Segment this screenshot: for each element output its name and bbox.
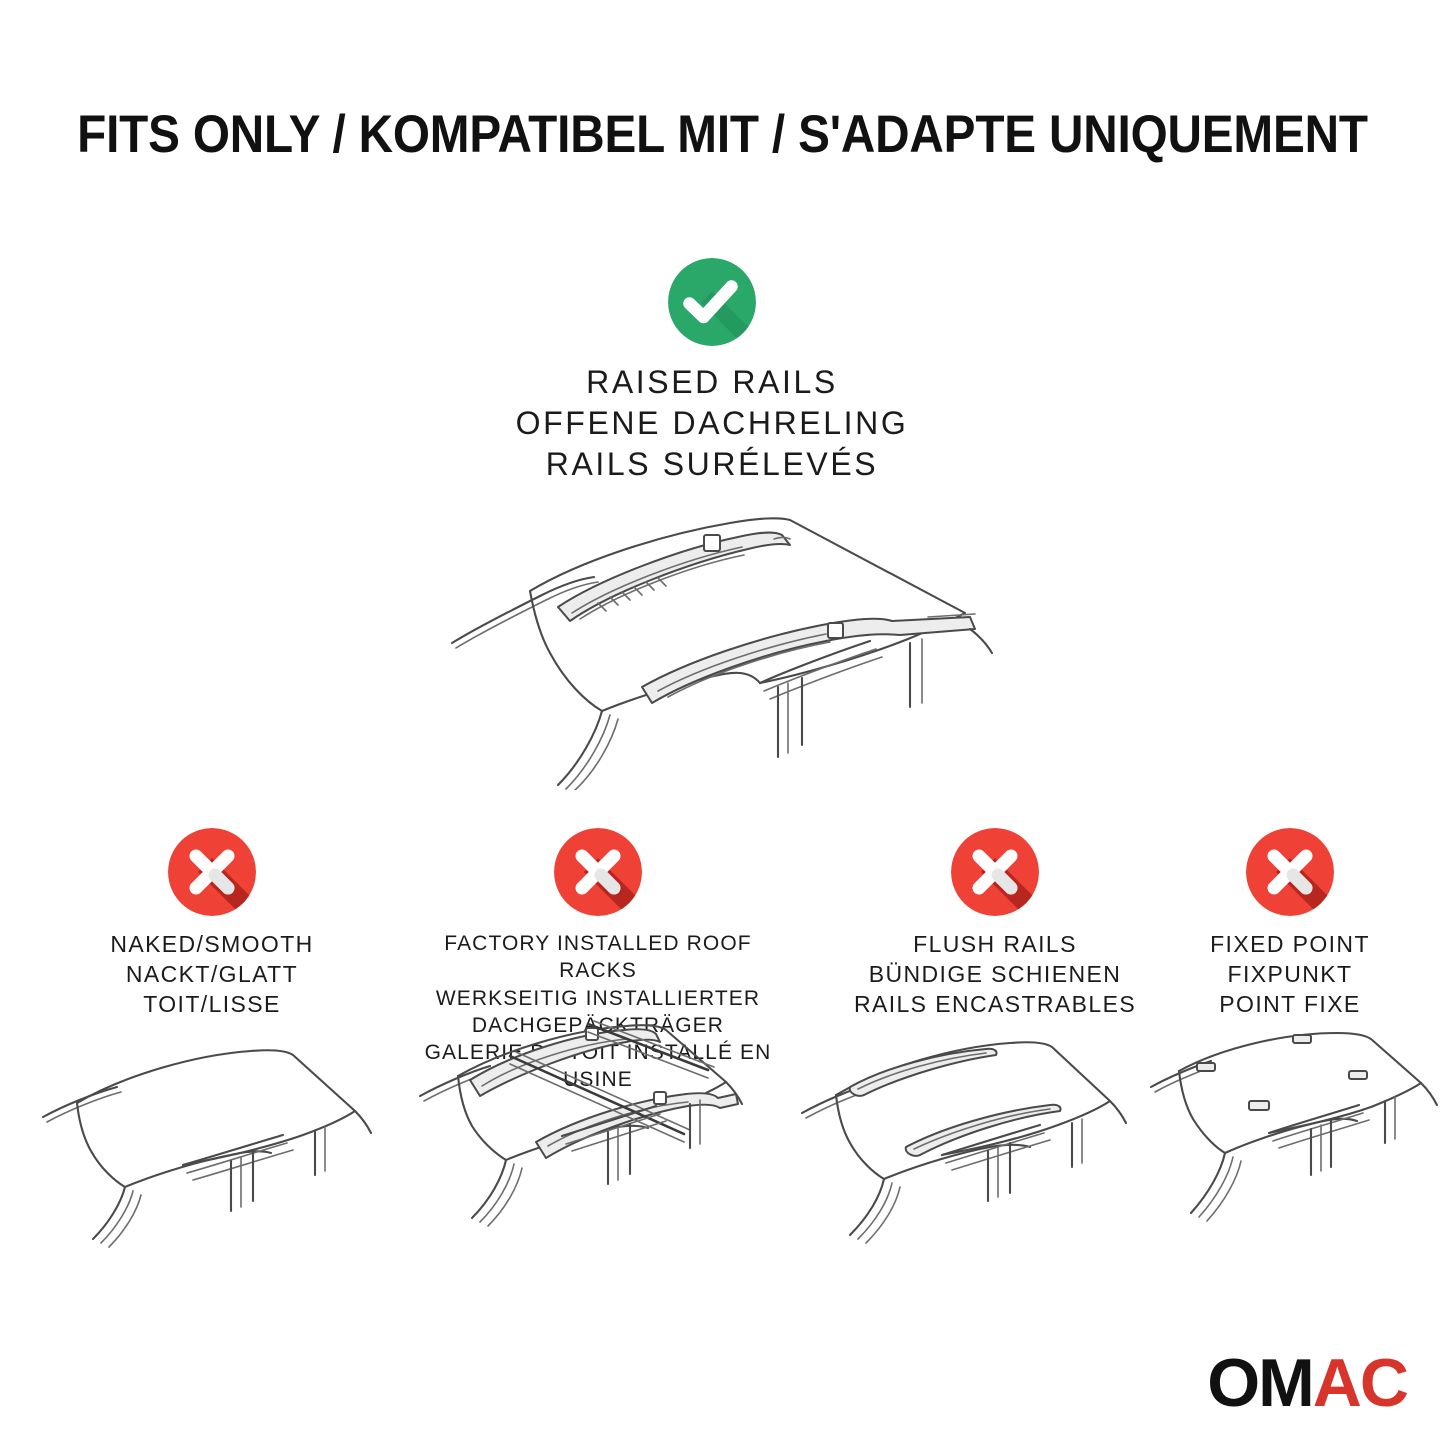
incompatible-caption: NAKED/SMOOTH NACKT/GLATT TOIT/LISSE bbox=[32, 930, 392, 1020]
car-roof-fixed-point-illustration bbox=[1145, 1025, 1445, 1255]
car-roof-flush-rails-illustration bbox=[788, 1025, 1143, 1255]
car-roof-naked-smooth-illustration bbox=[25, 1025, 380, 1255]
compatible-caption: RAISED RAILS OFFENE DACHRELING RAILS SUR… bbox=[412, 362, 1012, 485]
cross-circle-icon bbox=[554, 828, 642, 916]
compatibility-infographic: FITS ONLY / KOMPATIBEL MIT / S'ADAPTE UN… bbox=[0, 0, 1445, 1445]
cross-circle-icon bbox=[1246, 828, 1334, 916]
logo-text-red: AC bbox=[1313, 1345, 1407, 1421]
omac-logo: OMAC bbox=[1207, 1349, 1407, 1417]
page-title: FITS ONLY / KOMPATIBEL MIT / S'ADAPTE UN… bbox=[72, 104, 1373, 165]
check-circle-icon bbox=[668, 258, 756, 346]
car-roof-factory-racks-illustration bbox=[408, 1012, 763, 1255]
incompatible-caption: FIXED POINT FIXPUNKT POINT FIXE bbox=[1110, 930, 1445, 1020]
cross-circle-icon bbox=[951, 828, 1039, 916]
logo-text-dark: OM bbox=[1207, 1345, 1313, 1421]
cross-circle-icon bbox=[168, 828, 256, 916]
car-roof-raised-rails-illustration bbox=[430, 495, 1010, 790]
